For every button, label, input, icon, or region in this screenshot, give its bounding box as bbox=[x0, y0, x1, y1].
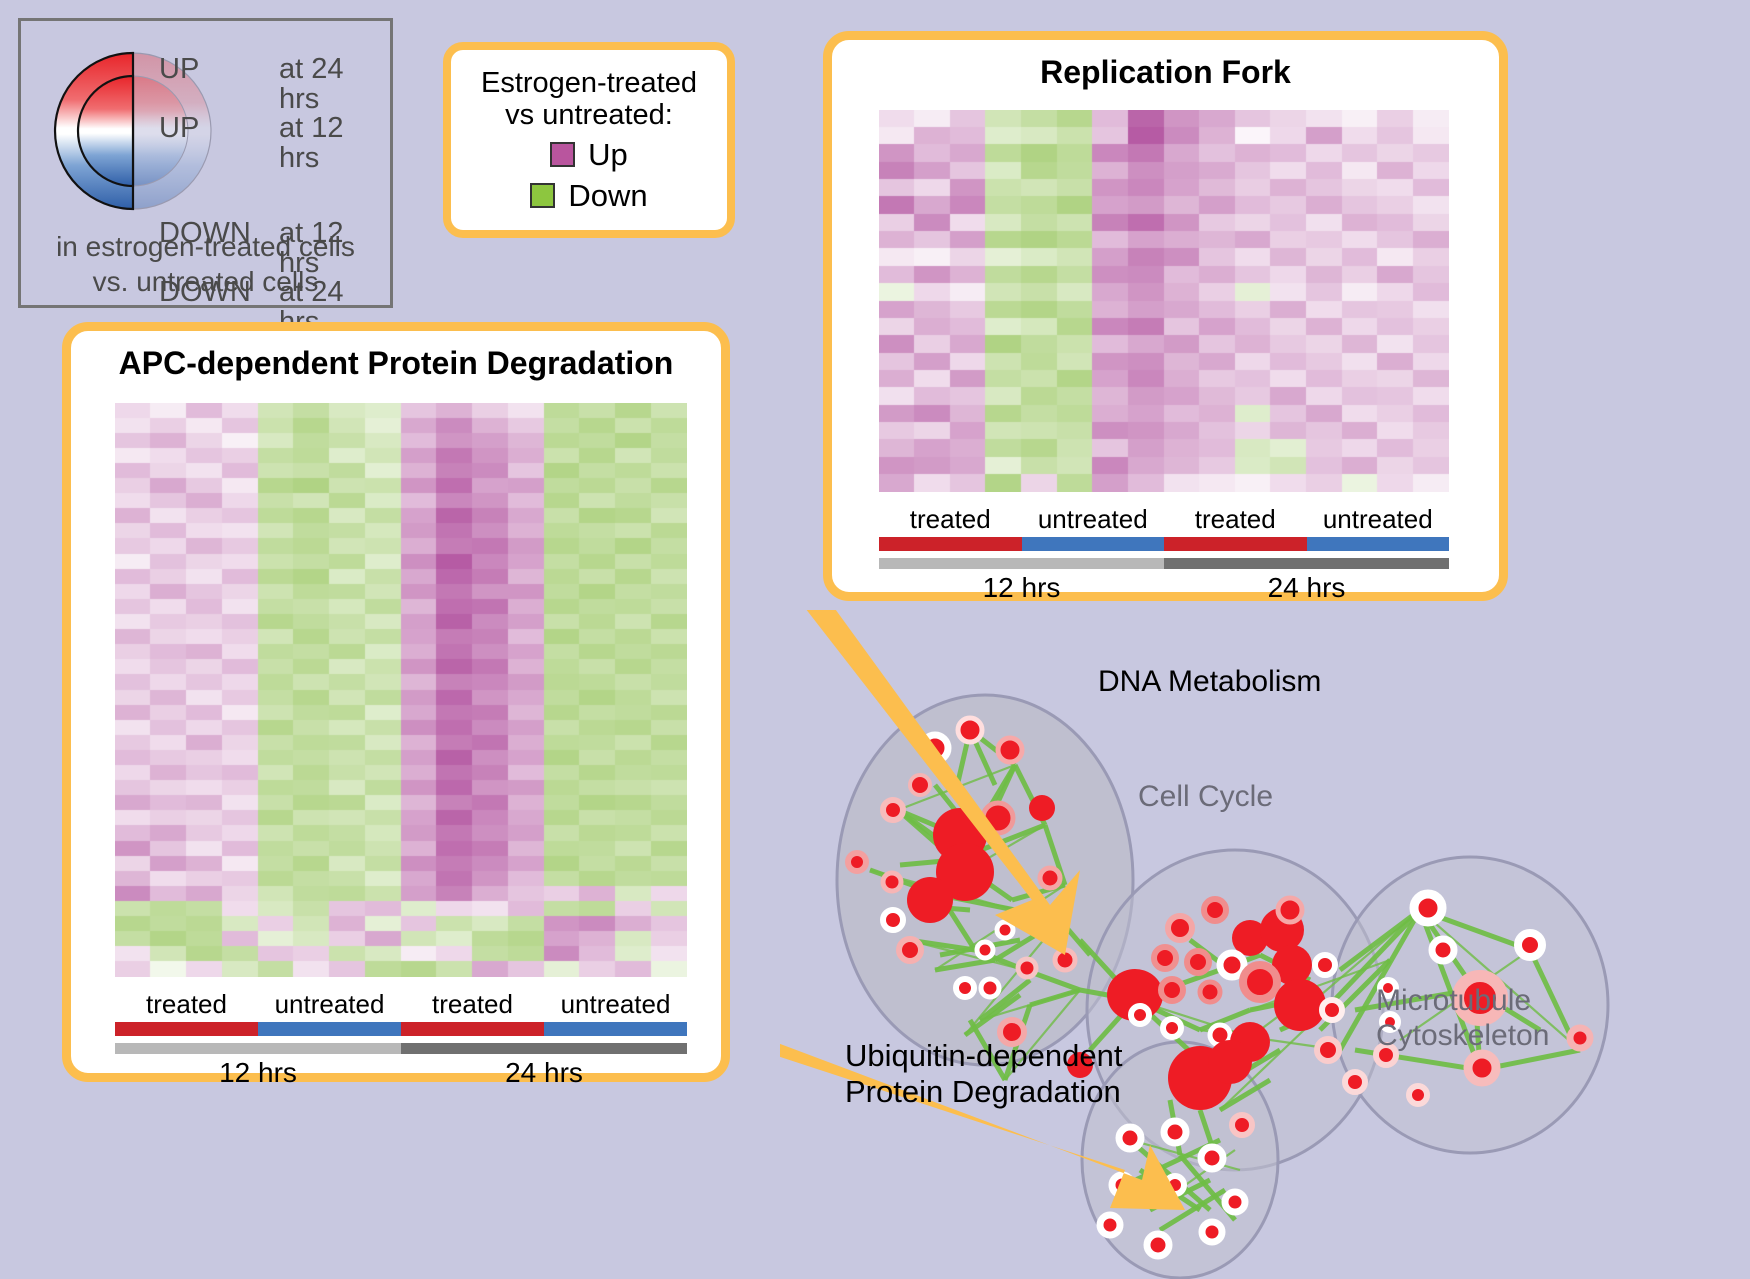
label-microtubule-cytoskeleton: Microtubule Cytoskeleton bbox=[1376, 983, 1549, 1054]
bar-segment-treated-24 bbox=[1164, 537, 1307, 551]
bar-segment-untreated-24 bbox=[544, 1022, 687, 1036]
network-node[interactable] bbox=[1131, 1006, 1149, 1024]
estrogen-title-line-1: Estrogen-treated bbox=[451, 67, 727, 99]
dial-row: UP at 12 hrs bbox=[159, 114, 390, 173]
estrogen-legend-panel: Estrogen-treated vs untreated: Up Down bbox=[443, 42, 735, 238]
network-node[interactable] bbox=[883, 873, 901, 891]
dial-direction: UP bbox=[159, 114, 279, 144]
network-node[interactable] bbox=[1278, 898, 1302, 922]
network-node[interactable] bbox=[1163, 1019, 1181, 1037]
legend-item-down: Down bbox=[451, 178, 727, 214]
bar-segment-12hrs bbox=[879, 558, 1164, 569]
group-labels: treated untreated treated untreated bbox=[115, 989, 687, 1020]
network-node[interactable] bbox=[1208, 1040, 1252, 1084]
group-label: untreated bbox=[1307, 504, 1450, 535]
bar-segment-24hrs bbox=[401, 1043, 687, 1054]
bar-segment-treated-24 bbox=[401, 1022, 544, 1036]
network-node[interactable] bbox=[998, 738, 1022, 762]
bar-segment-12hrs bbox=[115, 1043, 401, 1054]
network-node[interactable] bbox=[1119, 1127, 1141, 1149]
label-line-1: Microtubule bbox=[1376, 983, 1549, 1018]
down-swatch-icon bbox=[530, 183, 555, 208]
dial-time: at 12 hrs bbox=[279, 114, 390, 173]
label-line-2: Cytoskeleton bbox=[1376, 1018, 1549, 1053]
network-node[interactable] bbox=[1317, 1039, 1339, 1061]
network-node[interactable] bbox=[1243, 965, 1277, 999]
group-label: untreated bbox=[1022, 504, 1165, 535]
network-node[interactable] bbox=[1029, 795, 1055, 821]
footnote-line-1: in estrogen-treated cells bbox=[21, 229, 390, 264]
time-label: 12 hrs bbox=[115, 1057, 401, 1089]
dial-row: UP at 24 hrs bbox=[159, 55, 390, 114]
bar-segment-treated-12 bbox=[879, 537, 1022, 551]
network-node[interactable] bbox=[956, 979, 974, 997]
network-node[interactable] bbox=[1147, 1234, 1169, 1256]
replication-fork-panel: Replication Fork treated untreated treat… bbox=[823, 31, 1508, 601]
network-node[interactable] bbox=[1161, 979, 1183, 1001]
label-cell-cycle: Cell Cycle bbox=[1138, 780, 1273, 814]
treatment-color-bar bbox=[115, 1022, 687, 1036]
bar-segment-treated-12 bbox=[115, 1022, 258, 1036]
time-labels: 12 hrs 24 hrs bbox=[879, 572, 1449, 604]
legend-item-up: Up bbox=[451, 137, 727, 173]
time-label: 24 hrs bbox=[1164, 572, 1449, 604]
heatmap-canvas bbox=[115, 403, 687, 977]
network-node[interactable] bbox=[1187, 951, 1209, 973]
footnote-line-2: vs. untreated cells bbox=[21, 264, 390, 299]
network-node[interactable] bbox=[1220, 953, 1244, 977]
time-color-bar bbox=[115, 1043, 687, 1054]
network-node[interactable] bbox=[1168, 916, 1192, 940]
dial-time: at 24 hrs bbox=[279, 55, 390, 114]
group-label: treated bbox=[115, 989, 258, 1020]
network-svg bbox=[780, 610, 1750, 1279]
replication-fork-heatmap-block: treated untreated treated untreated 12 h… bbox=[879, 110, 1449, 604]
network-node[interactable] bbox=[883, 800, 903, 820]
group-label: treated bbox=[879, 504, 1022, 535]
network-node[interactable] bbox=[1518, 933, 1542, 957]
network-node[interactable] bbox=[1345, 1072, 1365, 1092]
time-color-bar bbox=[879, 558, 1449, 569]
bar-segment-24hrs bbox=[1164, 558, 1449, 569]
network-node[interactable] bbox=[1204, 899, 1226, 921]
network-node[interactable] bbox=[958, 718, 982, 742]
dial-direction: UP bbox=[159, 55, 279, 85]
bar-segment-untreated-12 bbox=[1022, 537, 1165, 551]
network-node[interactable] bbox=[1202, 1222, 1222, 1242]
network-node[interactable] bbox=[977, 942, 993, 958]
apc-degradation-panel: APC-dependent Protein Degradation treate… bbox=[62, 322, 730, 1082]
bar-segment-untreated-12 bbox=[258, 1022, 401, 1036]
time-label: 12 hrs bbox=[879, 572, 1164, 604]
panel-title: Replication Fork bbox=[832, 54, 1499, 91]
group-label: untreated bbox=[544, 989, 687, 1020]
expression-dial-legend: UP at 24 hrs UP at 12 hrs DOWN at 12 hrs… bbox=[18, 18, 393, 308]
label-dna-metabolism: DNA Metabolism bbox=[1098, 665, 1321, 699]
network-node[interactable] bbox=[1100, 1215, 1120, 1235]
apc-heatmap-block: treated untreated treated untreated 12 h… bbox=[115, 403, 687, 1089]
network-node[interactable] bbox=[910, 775, 930, 795]
treatment-color-bar bbox=[879, 537, 1449, 551]
up-label: Up bbox=[588, 137, 628, 173]
network-node[interactable] bbox=[848, 853, 866, 871]
label-line-1: Ubiquitin-dependent bbox=[845, 1038, 1123, 1074]
time-label: 24 hrs bbox=[401, 1057, 687, 1089]
group-label: untreated bbox=[258, 989, 401, 1020]
estrogen-title-line-2: vs untreated: bbox=[451, 99, 727, 131]
time-labels: 12 hrs 24 hrs bbox=[115, 1057, 687, 1089]
label-line-2: Protein Degradation bbox=[845, 1074, 1123, 1110]
heatmap-canvas bbox=[879, 110, 1449, 492]
network-node[interactable] bbox=[981, 979, 999, 997]
pathway-network-diagram: DNA Metabolism Cell Cycle Microtubule Cy… bbox=[780, 610, 1750, 1279]
network-node[interactable] bbox=[1201, 1147, 1223, 1169]
panel-title: APC-dependent Protein Degradation bbox=[71, 345, 721, 382]
network-node[interactable] bbox=[883, 910, 903, 930]
network-node[interactable] bbox=[997, 922, 1013, 938]
up-swatch-icon bbox=[550, 142, 575, 167]
dial-legend-footnote: in estrogen-treated cells vs. untreated … bbox=[21, 229, 390, 300]
network-node-hub[interactable] bbox=[907, 877, 953, 923]
bar-segment-untreated-24 bbox=[1307, 537, 1450, 551]
network-node[interactable] bbox=[1414, 894, 1442, 922]
network-node[interactable] bbox=[1225, 1192, 1245, 1212]
network-node[interactable] bbox=[1232, 1115, 1252, 1135]
network-node[interactable] bbox=[1409, 1086, 1427, 1104]
network-node[interactable] bbox=[1040, 868, 1060, 888]
network-node[interactable] bbox=[1315, 955, 1335, 975]
network-node[interactable] bbox=[1468, 1054, 1496, 1082]
network-node[interactable] bbox=[1200, 982, 1220, 1002]
network-node[interactable] bbox=[1570, 1028, 1590, 1048]
group-label: treated bbox=[1164, 504, 1307, 535]
label-ubiquitin-degradation: Ubiquitin-dependent Protein Degradation bbox=[845, 1038, 1123, 1110]
estrogen-legend-title: Estrogen-treated vs untreated: bbox=[451, 67, 727, 132]
down-label: Down bbox=[568, 178, 647, 214]
network-node[interactable] bbox=[1164, 1121, 1186, 1143]
group-labels: treated untreated treated untreated bbox=[879, 504, 1449, 535]
network-node[interactable] bbox=[1154, 947, 1176, 969]
network-node[interactable] bbox=[1432, 939, 1454, 961]
figure-canvas: UP at 24 hrs UP at 12 hrs DOWN at 12 hrs… bbox=[0, 0, 1750, 1279]
network-node-hub[interactable] bbox=[1274, 979, 1326, 1031]
group-label: treated bbox=[401, 989, 544, 1020]
network-node[interactable] bbox=[899, 939, 921, 961]
network-node[interactable] bbox=[1322, 1000, 1342, 1020]
network-node[interactable] bbox=[1018, 959, 1036, 977]
